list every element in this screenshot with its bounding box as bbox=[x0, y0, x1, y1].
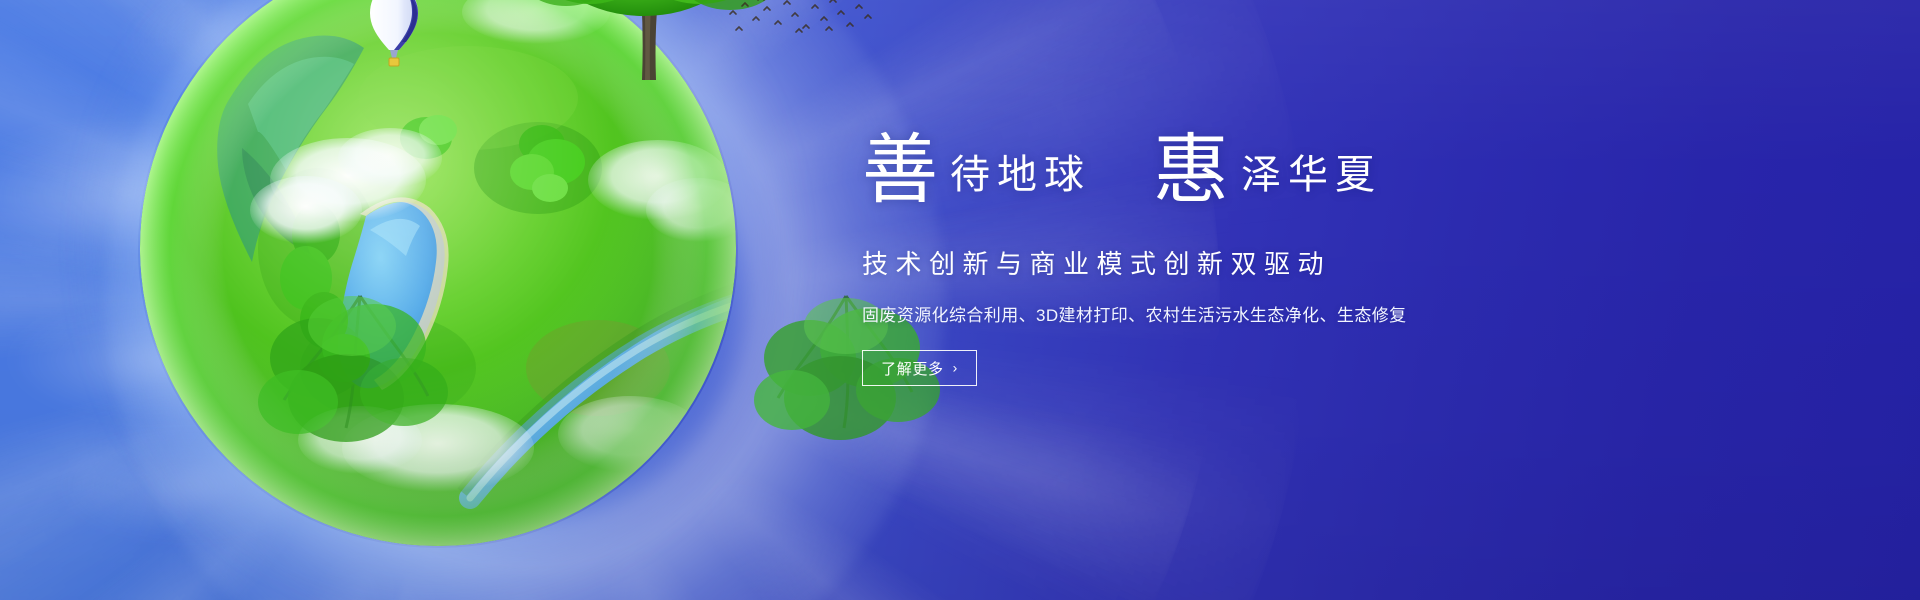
hero-banner: 善 待地球 惠 泽华夏 技术创新与商业模式创新双驱动 固废资源化综合利用、3D建… bbox=[0, 0, 1920, 600]
tiny-planet-earth bbox=[138, 0, 738, 548]
description: 固废资源化综合利用、3D建材打印、农村生活污水生态净化、生态修复 bbox=[862, 301, 1562, 326]
tree-icon bbox=[256, 266, 456, 456]
chevron-right-icon: › bbox=[953, 361, 958, 375]
headline-text-2: 泽华夏 bbox=[1241, 155, 1382, 195]
headline-char-primary-2: 惠 bbox=[1153, 132, 1229, 208]
hero-copy: 善 待地球 惠 泽华夏 技术创新与商业模式创新双驱动 固废资源化综合利用、3D建… bbox=[862, 126, 1562, 386]
hot-air-balloon-icon bbox=[366, 0, 422, 78]
subtitle: 技术创新与商业模式创新双驱动 bbox=[862, 244, 1562, 281]
birds-icon bbox=[726, 0, 876, 40]
headline: 善 待地球 惠 泽华夏 bbox=[862, 126, 1562, 218]
learn-more-button[interactable]: 了解更多 › bbox=[862, 350, 977, 386]
headline-char-primary-1: 善 bbox=[862, 132, 938, 208]
learn-more-label: 了解更多 bbox=[881, 358, 943, 379]
headline-text-1: 待地球 bbox=[950, 155, 1091, 195]
